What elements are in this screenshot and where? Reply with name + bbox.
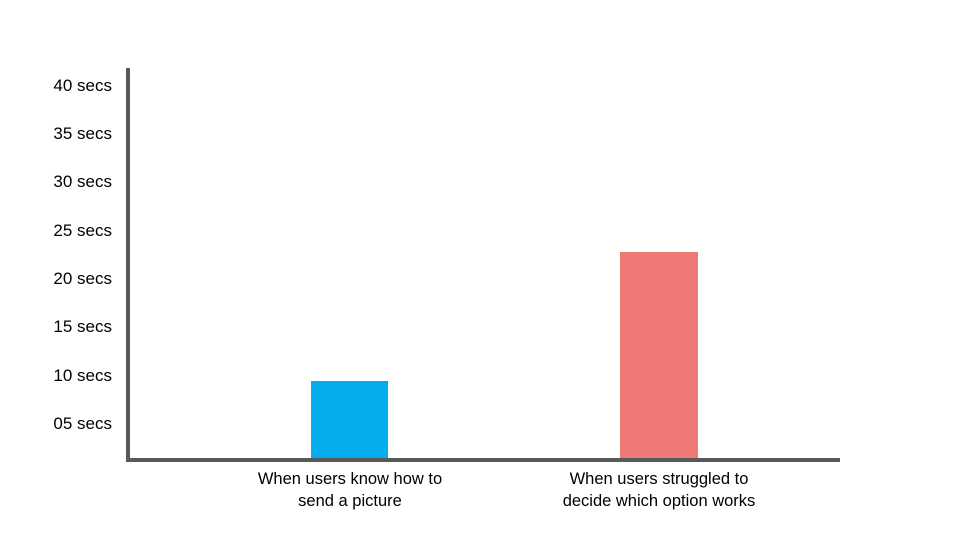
x-tick-label-1-line-1: When users struggled to	[519, 468, 799, 490]
y-tick-label: 25 secs	[0, 222, 112, 239]
x-axis-line	[126, 458, 840, 462]
y-tick-label: 10 secs	[0, 367, 112, 384]
bar-series-0	[311, 381, 388, 458]
bar-series-1	[620, 252, 698, 458]
y-tick-label: 15 secs	[0, 318, 112, 335]
y-tick-label: 30 secs	[0, 173, 112, 190]
y-tick-label: 35 secs	[0, 125, 112, 142]
x-tick-label-0-line-2: send a picture	[215, 490, 485, 512]
x-tick-label-0-line-1: When users know how to	[215, 468, 485, 490]
x-tick-label-1-line-2: decide which option works	[519, 490, 799, 512]
x-tick-label-0: When users know how to send a picture	[215, 468, 485, 513]
x-tick-label-1: When users struggled to decide which opt…	[519, 468, 799, 513]
plot-area	[130, 68, 840, 458]
y-axis-tick-labels: 40 secs 35 secs 30 secs 25 secs 20 secs …	[0, 0, 112, 540]
y-tick-label: 20 secs	[0, 270, 112, 287]
y-tick-label: 40 secs	[0, 77, 112, 94]
y-tick-label: 05 secs	[0, 415, 112, 432]
bar-chart: 40 secs 35 secs 30 secs 25 secs 20 secs …	[0, 0, 960, 540]
